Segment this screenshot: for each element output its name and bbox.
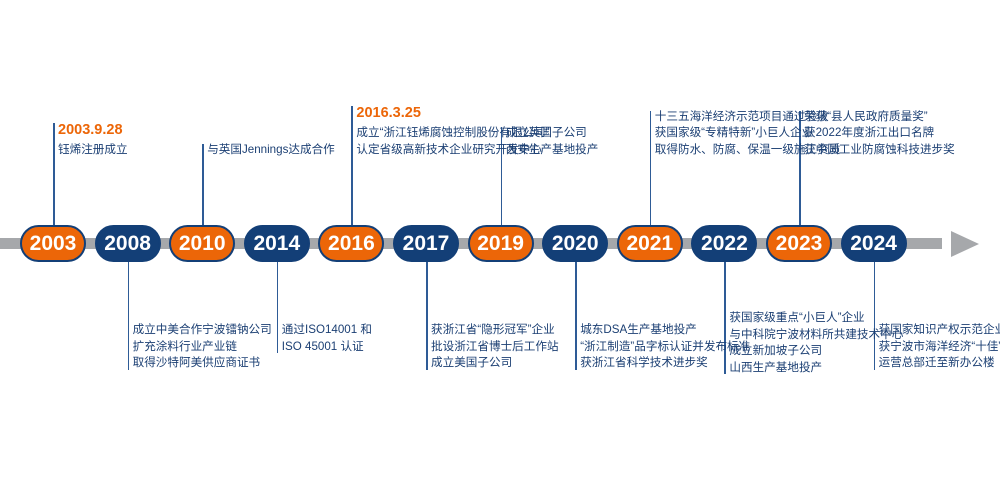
timeline-event-line: 批设浙江省博士后工作站 [431, 339, 559, 356]
timeline-event-line: 运营总部迁至新办公楼 [879, 355, 1000, 372]
timeline-year-pill-2020[interactable]: 2020 [542, 225, 608, 262]
timeline-year-pill-2022[interactable]: 2022 [691, 225, 757, 262]
timeline-event-line: 成立美国子公司 [431, 355, 559, 372]
timeline-event-2017: 获浙江省“隐形冠军”企业批设浙江省博士后工作站成立美国子公司 [431, 322, 559, 372]
timeline-event-line: “浙江制造”品字标认证并发布标准 [580, 339, 750, 356]
timeline-event-line: 西安生产基地投产 [506, 142, 599, 159]
timeline-event-line: 通过ISO14001 和 [282, 322, 372, 339]
timeline-event-2014: 通过ISO14001 和ISO 45001 认证 [282, 322, 372, 355]
timeline-year-pill-2008[interactable]: 2008 [95, 225, 161, 262]
timeline-event-headline-2016: 2016.3.25 [356, 104, 549, 122]
timeline-event-line: 与英国Jennings达成合作 [207, 142, 335, 159]
timeline-event-2020: 城东DSA生产基地投产“浙江制造”品字标认证并发布标准获浙江省科学技术进步奖 [580, 322, 750, 372]
timeline-connector-2008 [128, 262, 130, 370]
timeline-year-pill-2003[interactable]: 2003 [20, 225, 86, 262]
timeline-event-line: 荣获“县人民政府质量奖” [804, 109, 955, 126]
timeline-event-line: 山西生产基地投产 [729, 360, 903, 377]
timeline-infographic: 20032003.9.28钰烯注册成立2008成立中美合作宁波镭钠公司扩充涂料行… [0, 0, 1000, 492]
timeline-year-pill-2017[interactable]: 2017 [393, 225, 459, 262]
timeline-event-2024: 获国家知识产权示范企业获宁波市海洋经济“十佳”企业运营总部迁至新办公楼 [879, 322, 1000, 372]
timeline-year-pill-2023[interactable]: 2023 [766, 225, 832, 262]
timeline-year-pill-2014[interactable]: 2014 [244, 225, 310, 262]
timeline-event-line: 获国家知识产权示范企业 [879, 322, 1000, 339]
timeline-connector-2020 [575, 262, 577, 370]
timeline-event-line: 获浙江省科学技术进步奖 [580, 355, 750, 372]
timeline-event-line: 成立英国子公司 [506, 125, 599, 142]
timeline-connector-2003 [53, 123, 55, 226]
timeline-event-2022: 获国家级重点“小巨人”企业与中科院宁波材料所共建技术中心成立新加坡子公司山西生产… [729, 310, 903, 376]
timeline-event-2023: 荣获“县人民政府质量奖”获2022年度浙江出口名牌获中国工业防腐蚀科技进步奖 [804, 109, 955, 159]
timeline-event-line: 获国家级重点“小巨人”企业 [729, 310, 903, 327]
timeline-event-line: 成立中美合作宁波镭钠公司 [133, 322, 272, 339]
timeline-event-line: 城东DSA生产基地投产 [580, 322, 750, 339]
timeline-event-2010: 与英国Jennings达成合作 [207, 142, 335, 159]
timeline-year-pill-2016[interactable]: 2016 [318, 225, 384, 262]
timeline-event-2008: 成立中美合作宁波镭钠公司扩充涂料行业产业链取得沙特阿美供应商证书 [133, 322, 272, 372]
timeline-year-pill-2019[interactable]: 2019 [468, 225, 534, 262]
timeline-event-line: 获宁波市海洋经济“十佳”企业 [879, 339, 1000, 356]
timeline-event-line: 扩充涂料行业产业链 [133, 339, 272, 356]
timeline-event-line: 获浙江省“隐形冠军”企业 [431, 322, 559, 339]
timeline-event-line: 与中科院宁波材料所共建技术中心 [729, 327, 903, 344]
timeline-year-pill-2021[interactable]: 2021 [617, 225, 683, 262]
timeline-connector-2016 [351, 106, 353, 225]
timeline-event-line: 获中国工业防腐蚀科技进步奖 [804, 142, 955, 159]
timeline-connector-2014 [277, 262, 279, 353]
timeline-event-line: 钰烯注册成立 [58, 142, 128, 159]
timeline-event-headline-2003: 2003.9.28 [58, 121, 128, 139]
timeline-event-2019: 成立英国子公司西安生产基地投产 [506, 125, 599, 158]
right-arrow-icon [951, 231, 979, 257]
timeline-year-pill-2024[interactable]: 2024 [841, 225, 907, 262]
timeline-event-line: 获2022年度浙江出口名牌 [804, 125, 955, 142]
timeline-year-pill-2010[interactable]: 2010 [169, 225, 235, 262]
timeline-event-line: 取得沙特阿美供应商证书 [133, 355, 272, 372]
timeline-connector-2017 [426, 262, 428, 370]
timeline-axis-dash-gap [942, 236, 951, 251]
timeline-event-line: 成立新加坡子公司 [729, 343, 903, 360]
timeline-connector-2010 [202, 144, 204, 226]
timeline-event-2003: 2003.9.28钰烯注册成立 [58, 121, 128, 159]
timeline-event-line: ISO 45001 认证 [282, 339, 372, 356]
timeline-connector-2021 [650, 111, 652, 226]
